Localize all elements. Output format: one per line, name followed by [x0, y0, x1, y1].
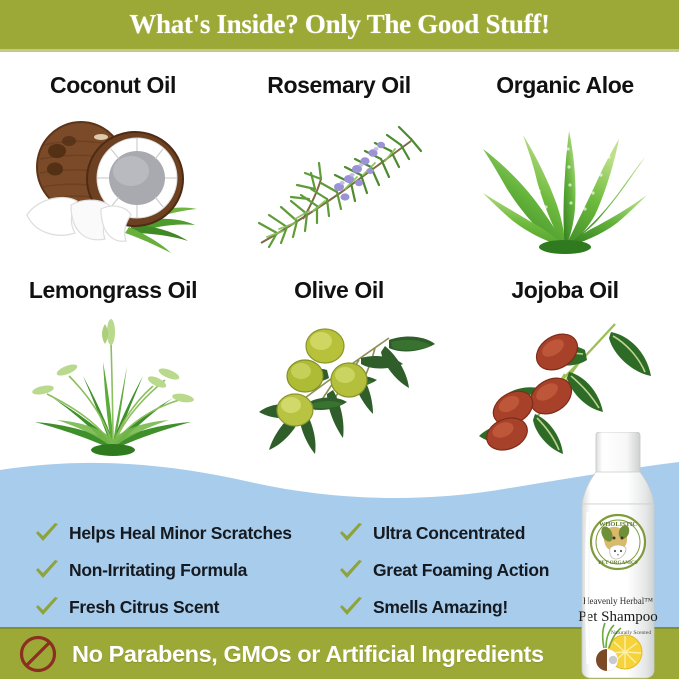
benefits-column-left: Helps Heal Minor Scratches Non-Irritatin…: [34, 515, 334, 626]
product-infographic: What's Inside? Only The Good Stuff! Coco…: [0, 0, 679, 679]
ingredient-card-rosemary-oil: Rosemary Oil: [226, 60, 452, 265]
product-name-text: Pet Shampoo: [578, 609, 658, 625]
brand-bottom-text: PET ORGANICS: [598, 560, 637, 566]
ingredient-card-coconut-oil: Coconut Oil: [0, 60, 226, 265]
ingredient-label: Lemongrass Oil: [29, 277, 197, 304]
checkmark-icon: [338, 522, 364, 546]
ingredient-grid: Coconut Oil: [0, 60, 679, 470]
footer-text: No Parabens, GMOs or Artificial Ingredie…: [72, 641, 544, 668]
ingredient-label: Olive Oil: [294, 277, 384, 304]
scent-badge-text: Naturally Scented: [611, 630, 651, 636]
aloe-vera-illustration: [465, 105, 665, 255]
benefit-item: Great Foaming Action: [338, 552, 578, 589]
product-line-text: Heavenly Herbal™: [583, 596, 653, 606]
benefit-item: Fresh Citrus Scent: [34, 589, 334, 626]
no-prohibited-icon: [18, 634, 58, 674]
benefits-list: Helps Heal Minor Scratches Non-Irritatin…: [0, 515, 600, 627]
benefit-label: Smells Amazing!: [373, 597, 508, 618]
rosemary-sprig-illustration: [239, 105, 439, 255]
product-bottle: WHOLISTIC PET ORGANICS Heavenly Herbal™ …: [566, 432, 670, 679]
ingredient-label: Rosemary Oil: [267, 72, 411, 99]
ingredient-card-lemongrass-oil: Lemongrass Oil: [0, 265, 226, 470]
ingredient-card-olive-oil: Olive Oil: [226, 265, 452, 470]
checkmark-icon: [34, 522, 60, 546]
coconut-illustration: [13, 105, 213, 255]
checkmark-icon: [34, 596, 60, 620]
lemongrass-illustration: [13, 310, 213, 460]
benefit-label: Ultra Concentrated: [373, 523, 525, 544]
ingredient-card-organic-aloe: Organic Aloe: [452, 60, 678, 265]
benefit-label: Fresh Citrus Scent: [69, 597, 219, 618]
benefits-column-right: Ultra Concentrated Great Foaming Action …: [338, 515, 578, 626]
checkmark-icon: [338, 559, 364, 583]
benefit-item: Helps Heal Minor Scratches: [34, 515, 334, 552]
page-title: What's Inside? Only The Good Stuff!: [129, 9, 549, 40]
benefit-label: Helps Heal Minor Scratches: [69, 523, 292, 544]
brand-top-text: WHOLISTIC: [599, 521, 637, 528]
olive-branch-illustration: [239, 310, 439, 460]
checkmark-icon: [338, 596, 364, 620]
header-banner: What's Inside? Only The Good Stuff!: [0, 0, 679, 52]
ingredient-label: Coconut Oil: [50, 72, 176, 99]
benefit-label: Non-Irritating Formula: [69, 560, 247, 581]
benefit-item: Smells Amazing!: [338, 589, 578, 626]
benefit-item: Ultra Concentrated: [338, 515, 578, 552]
ingredient-label: Organic Aloe: [496, 72, 634, 99]
checkmark-icon: [34, 559, 60, 583]
benefit-label: Great Foaming Action: [373, 560, 549, 581]
benefit-item: Non-Irritating Formula: [34, 552, 334, 589]
ingredient-label: Jojoba Oil: [511, 277, 618, 304]
